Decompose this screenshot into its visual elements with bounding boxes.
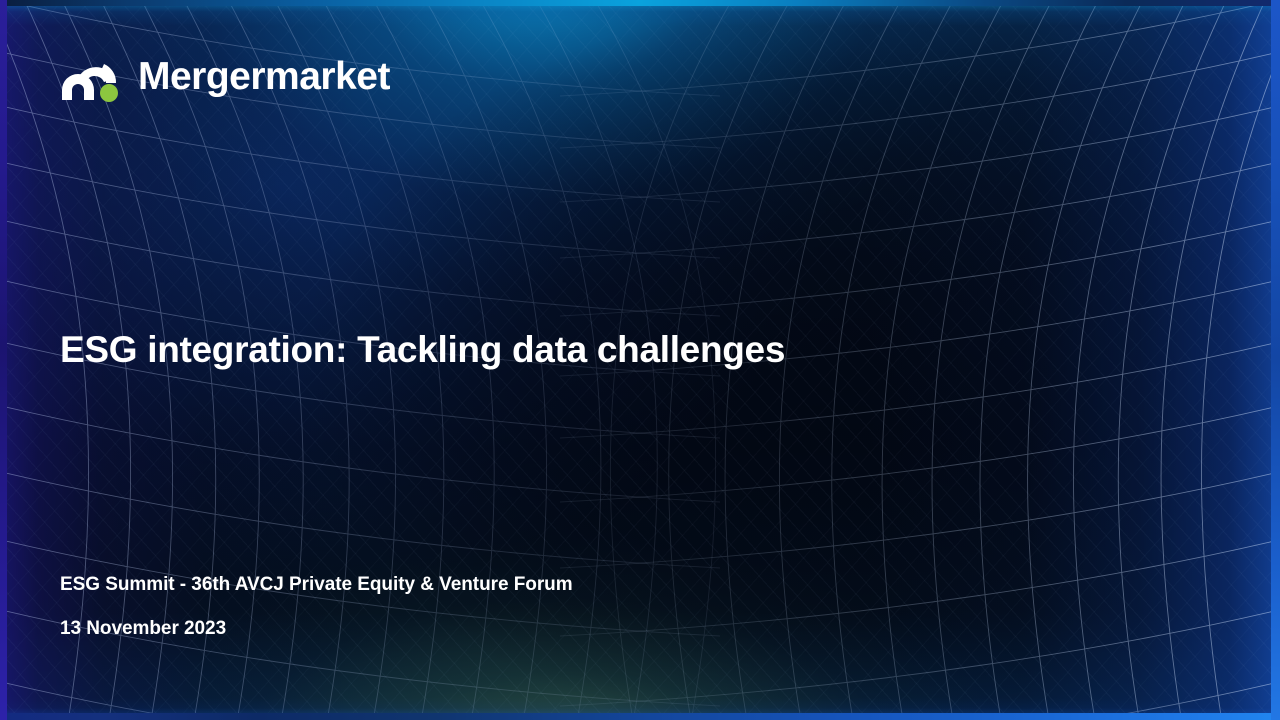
title-slide: Mergermarket ESG integration: Tackling d… [0,0,1280,720]
footer-event-name: ESG Summit - 36th AVCJ Private Equity & … [60,575,573,594]
mergermarket-wordmark: Mergermarket [138,57,390,96]
mergermarket-arch-mark-icon [60,50,124,102]
slide-footer: ESG Summit - 36th AVCJ Private Equity & … [60,575,573,638]
footer-date: 13 November 2023 [60,619,573,638]
mergermarket-logo[interactable]: Mergermarket [60,50,390,102]
slide-title: ESG integration: Tackling data challenge… [60,328,785,372]
